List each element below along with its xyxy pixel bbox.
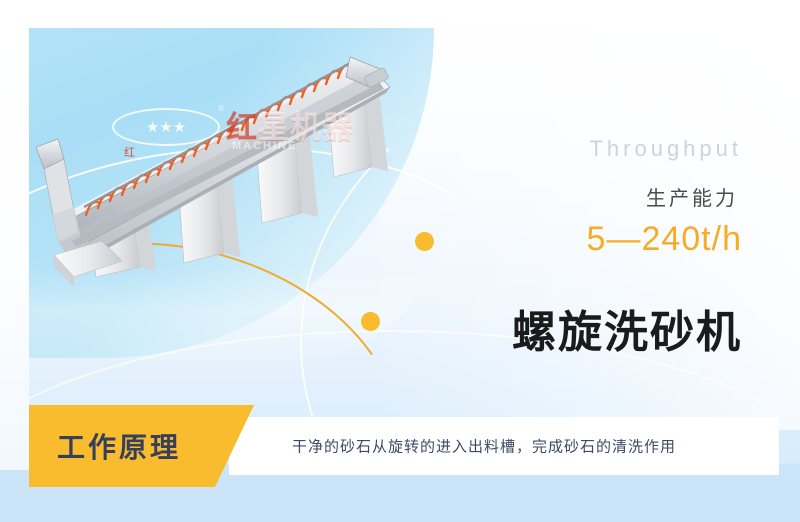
working-principle-banner: 干净的砂石从旋转的进入出料槽，完成砂石的清洗作用 工作原理: [29, 405, 779, 487]
background-right-wash: [380, 0, 800, 430]
throughput-value: 5—240t/h: [587, 220, 742, 259]
throughput-label-en: Throughput: [589, 136, 742, 162]
feed-hopper: [36, 139, 86, 255]
decor-dot-lower: [361, 312, 380, 331]
product-title: 螺旋洗砂机: [512, 296, 742, 360]
banner-canvas: ★★★ ® 红 红星机器 MACHINE Throughput 生产能力 5—2…: [0, 0, 800, 522]
throughput-label-cn: 生产能力: [646, 182, 738, 211]
working-principle-description: 干净的砂石从旋转的进入出料槽，完成砂石的清洗作用: [292, 436, 676, 457]
frame-edge-top: [0, 0, 800, 28]
working-principle-description-box: 干净的砂石从旋转的进入出料槽，完成砂石的清洗作用: [229, 417, 779, 475]
working-principle-tag-label: 工作原理: [57, 426, 181, 466]
spiral-sand-washer-image: [28, 55, 428, 305]
frame-edge-left: [0, 0, 29, 470]
working-principle-tag: 工作原理: [29, 405, 254, 487]
